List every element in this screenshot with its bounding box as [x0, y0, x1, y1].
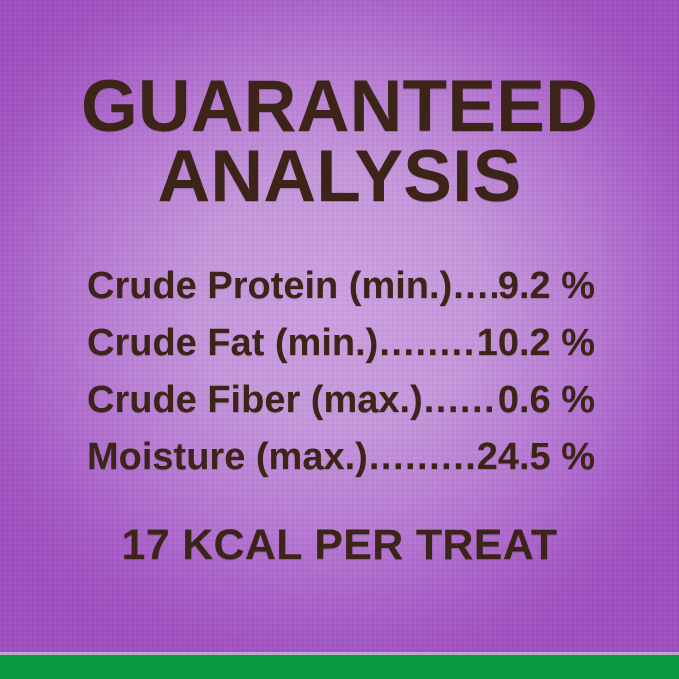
table-row: Moisture (max.) ............... 24.5 % — [87, 429, 595, 486]
title-line-1: GUARANTEED — [0, 72, 679, 142]
title-line-2: ANALYSIS — [0, 142, 679, 212]
nutrient-label: Moisture (max.) — [87, 429, 368, 486]
table-row: Crude Fiber (max.) ......... 0.6 % — [87, 372, 595, 429]
table-row: Crude Protein (min.) ....... 9.2 % — [87, 258, 595, 315]
nutrient-list: Crude Protein (min.) ....... 9.2 % Crude… — [87, 258, 595, 486]
dot-leader: ......... — [424, 372, 497, 429]
panel-title: GUARANTEED ANALYSIS — [0, 72, 679, 212]
dot-leader: ............... — [369, 429, 476, 486]
nutrient-value: 0.6 % — [498, 372, 595, 429]
nutrient-label: Crude Fiber (max.) — [87, 372, 423, 429]
green-accent-bar — [0, 655, 679, 679]
guaranteed-analysis-panel: GUARANTEED ANALYSIS Crude Protein (min.)… — [0, 0, 679, 679]
nutrient-value: 10.2 % — [477, 315, 595, 372]
calorie-statement: 17 KCAL PER TREAT — [0, 521, 679, 570]
dot-leader: ....... — [453, 258, 497, 315]
dot-leader: ............. — [379, 315, 475, 372]
table-row: Crude Fat (min.) ............. 10.2 % — [87, 315, 595, 372]
nutrient-label: Crude Fat (min.) — [87, 315, 378, 372]
nutrient-value: 24.5 % — [477, 429, 595, 486]
nutrient-label: Crude Protein (min.) — [87, 258, 452, 315]
nutrient-value: 9.2 % — [498, 258, 595, 315]
